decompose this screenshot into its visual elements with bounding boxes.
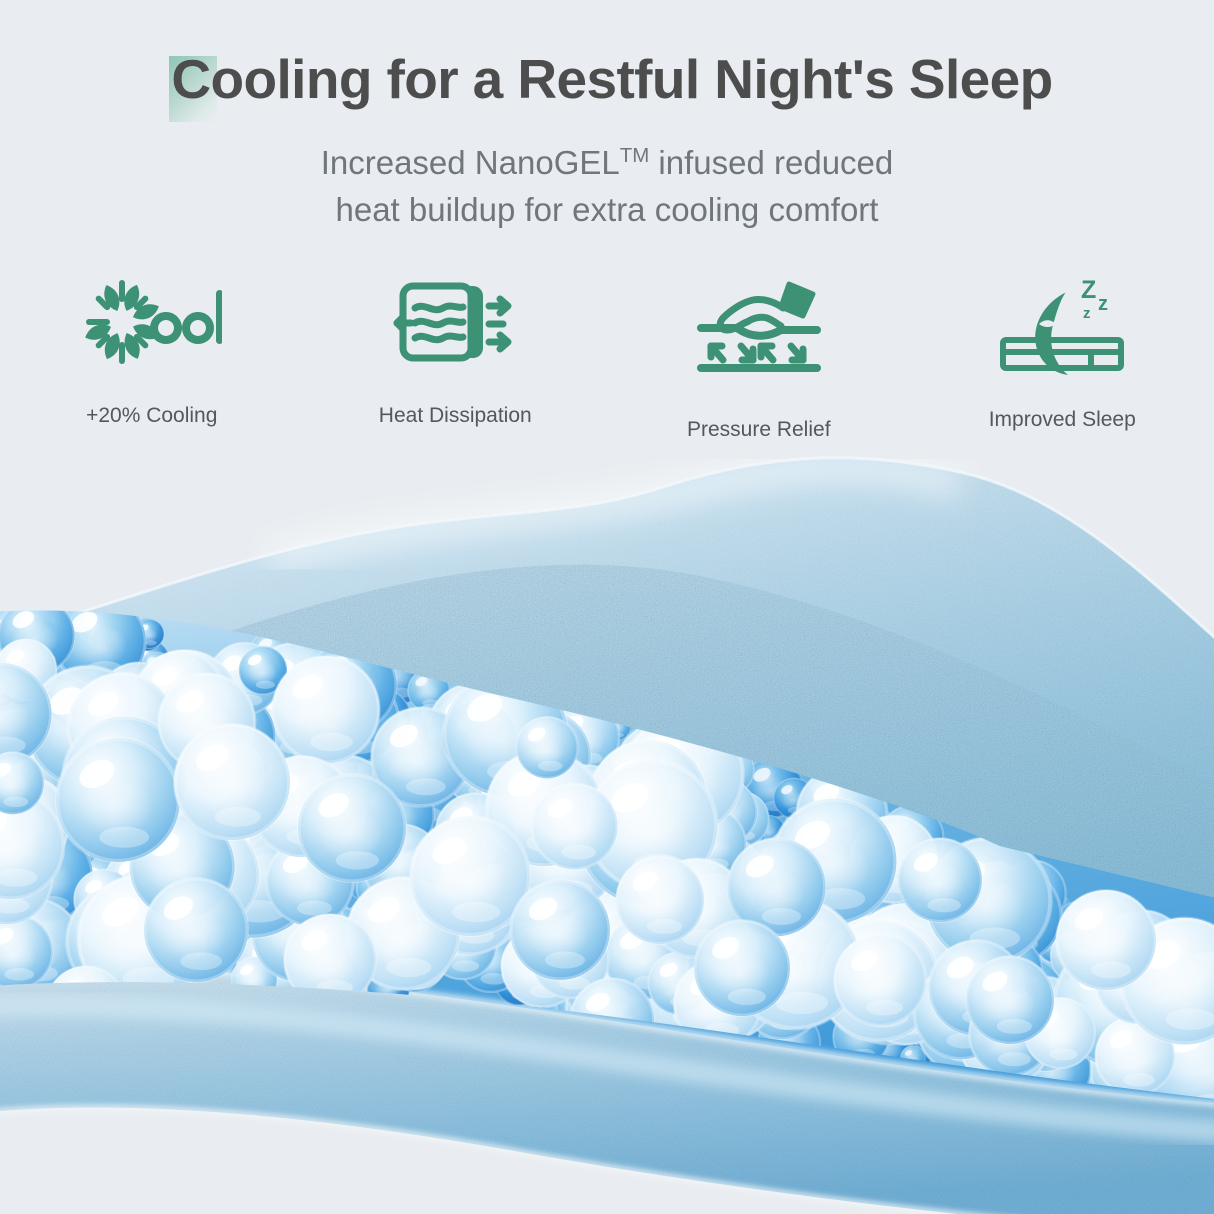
svg-text:Z: Z <box>1081 276 1096 304</box>
subtitle-text-a: Increased NanoGEL <box>321 144 620 181</box>
feature-label-cooling: +20% Cooling <box>86 404 217 428</box>
subtitle-line-2: heat buildup for extra cooling comfort <box>0 187 1214 234</box>
trademark-symbol: TM <box>620 144 650 167</box>
feature-label-improved-sleep: Improved Sleep <box>989 408 1136 432</box>
page-title-row: Cooling for a Restful Night's Sleep <box>0 52 1214 107</box>
feature-item-pressure-relief: Pressure Relief <box>607 272 911 442</box>
subtitle: Increased NanoGELTM infused reduced heat… <box>0 140 1214 234</box>
feature-list: +20% Cooling <box>0 272 1214 442</box>
svg-text:z: z <box>1083 305 1091 322</box>
improved-sleep-moon-bed-icon: Z z z <box>995 272 1129 376</box>
product-feature-infographic: Cooling for a Restful Night's Sleep Incr… <box>0 0 1214 1214</box>
feature-item-improved-sleep: Z z z Improved Sleep <box>911 272 1214 442</box>
subtitle-text-b: infused reduced <box>649 144 893 181</box>
feature-item-cooling: +20% Cooling <box>0 272 304 442</box>
subtitle-line-1: Increased NanoGELTM infused reduced <box>0 140 1214 187</box>
feature-label-heat-dissipation: Heat Dissipation <box>379 404 532 428</box>
page-title: Cooling for a Restful Night's Sleep <box>171 52 1052 107</box>
feature-item-heat-dissipation: Heat Dissipation <box>304 272 608 442</box>
svg-text:z: z <box>1098 293 1108 315</box>
heat-dissipation-icon <box>393 272 517 376</box>
cool-snowflake-icon <box>82 272 222 376</box>
feature-label-pressure-relief: Pressure Relief <box>687 418 831 442</box>
pressure-relief-hand-icon <box>689 272 829 376</box>
